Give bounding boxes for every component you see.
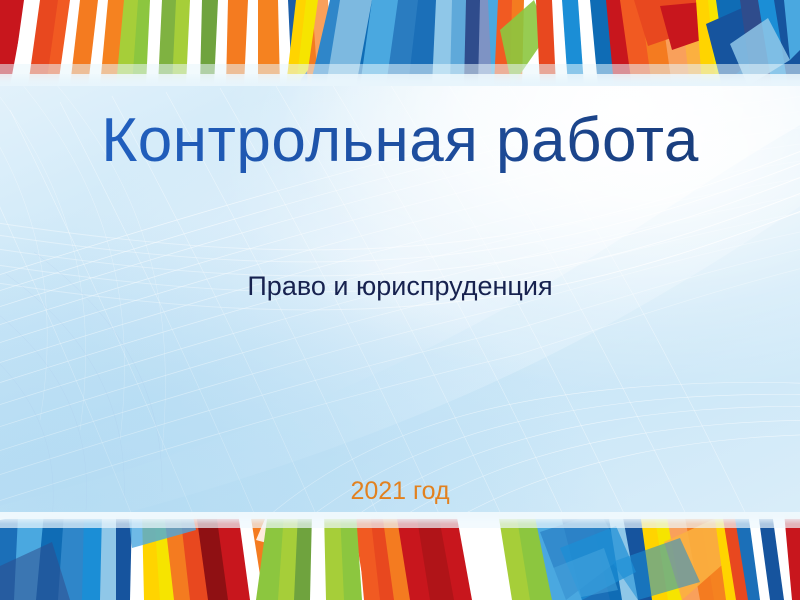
bottom-decorative-band	[0, 512, 800, 600]
slide-title: Контрольная работа	[0, 108, 800, 173]
top-decorative-band	[0, 0, 800, 86]
presentation-title-slide: Контрольная работа Право и юриспруденция…	[0, 0, 800, 600]
slide-year: 2021 год	[0, 476, 800, 506]
slide-subtitle: Право и юриспруденция	[0, 270, 800, 302]
